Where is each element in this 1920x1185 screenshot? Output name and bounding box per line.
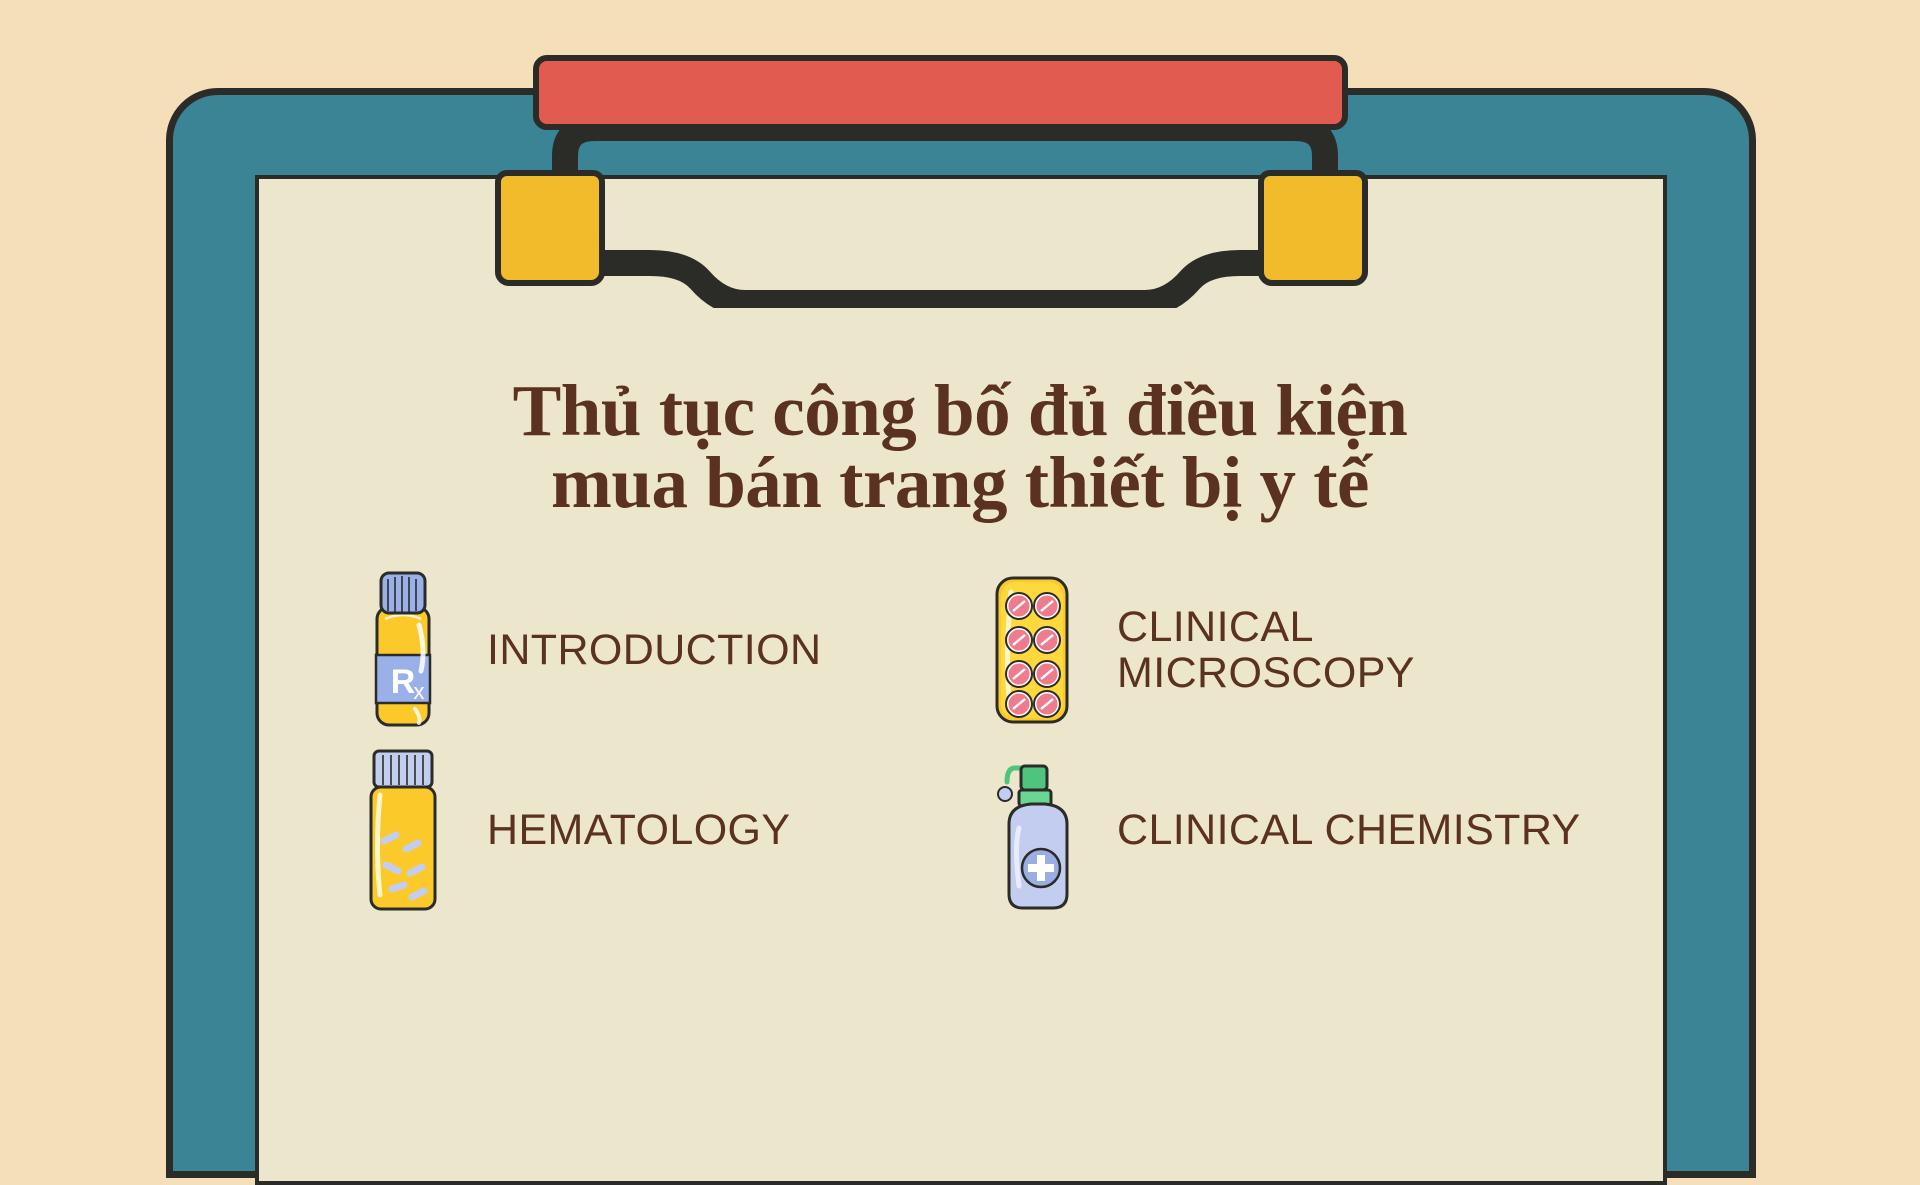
pill-bottle-icon	[340, 743, 465, 918]
menu-item-hematology[interactable]: HEMATOLOGY	[340, 740, 970, 920]
clip-arm-left	[495, 170, 605, 286]
title-line-1: Thủ tục công bố đủ điều kiện	[0, 375, 1920, 447]
svg-text:x: x	[413, 679, 424, 704]
menu-label: INTRODUCTION	[487, 627, 821, 673]
menu-list: R x INTRODUCTION	[340, 560, 1600, 920]
menu-row-2: HEMATOLOGY CLINICAL	[340, 740, 1600, 920]
page-title: Thủ tục công bố đủ điều kiện mua bán tra…	[0, 375, 1920, 520]
menu-label: CLINICAL CHEMISTRY	[1117, 807, 1581, 853]
menu-row-1: R x INTRODUCTION	[340, 560, 1600, 740]
menu-label: CLINICAL MICROSCOPY	[1117, 604, 1415, 697]
clip-red-bar	[533, 55, 1348, 130]
title-line-2: mua bán trang thiết bị y tế	[0, 447, 1920, 519]
menu-item-clinical-microscopy[interactable]: CLINICAL MICROSCOPY	[970, 560, 1600, 740]
menu-item-clinical-chemistry[interactable]: CLINICAL CHEMISTRY	[970, 740, 1600, 920]
poster-canvas: Thủ tục công bố đủ điều kiện mua bán tra…	[0, 0, 1920, 1080]
menu-label: HEMATOLOGY	[487, 807, 790, 853]
pill-blister-pack-icon	[970, 563, 1095, 738]
clip-arm-right	[1258, 170, 1368, 286]
menu-item-introduction[interactable]: R x INTRODUCTION	[340, 560, 970, 740]
sanitizer-bottle-icon	[970, 743, 1095, 918]
svg-text:R: R	[390, 663, 415, 701]
rx-bottle-icon: R x	[340, 563, 465, 738]
